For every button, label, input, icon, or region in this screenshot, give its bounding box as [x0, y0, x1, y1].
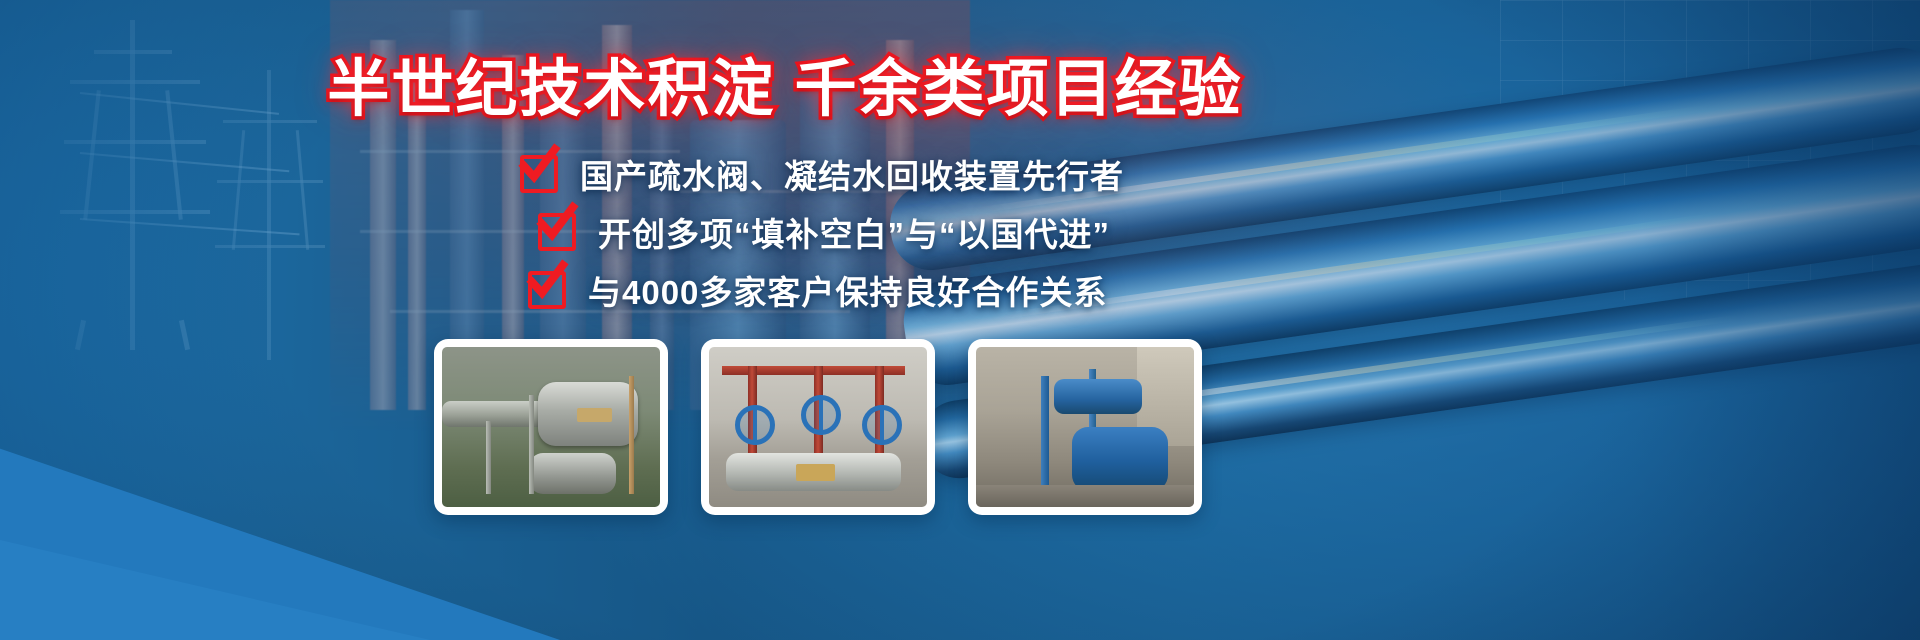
banner-headline: 半世纪技术积淀 千余类项目经验	[0, 38, 1570, 128]
product-photo-card[interactable]	[434, 339, 668, 515]
banner-content: 半世纪技术积淀 千余类项目经验 国产疏水阀、凝结水回收装置先行者 开创多项“填补…	[0, 0, 1920, 640]
checkbox-checked-icon	[528, 271, 566, 309]
product-photo-condensate-unit	[976, 347, 1194, 507]
product-photo-valve-manifold	[709, 347, 927, 507]
product-photo-gallery	[434, 339, 1202, 515]
product-photo-separator-vessel	[442, 347, 660, 507]
feature-list-item: 开创多项“填补空白”与“以国代进”	[520, 206, 1570, 258]
feature-list-item: 与4000多家客户保持良好合作关系	[520, 264, 1570, 316]
checkbox-checked-icon	[538, 213, 576, 251]
promo-banner: 半世纪技术积淀 千余类项目经验 国产疏水阀、凝结水回收装置先行者 开创多项“填补…	[0, 0, 1920, 640]
feature-list: 国产疏水阀、凝结水回收装置先行者 开创多项“填补空白”与“以国代进” 与4000…	[520, 148, 1570, 322]
feature-list-item-label: 与4000多家客户保持良好合作关系	[588, 266, 1107, 314]
product-photo-card[interactable]	[701, 339, 935, 515]
product-photo-card[interactable]	[968, 339, 1202, 515]
feature-list-item-label: 开创多项“填补空白”与“以国代进”	[598, 208, 1110, 256]
feature-list-item: 国产疏水阀、凝结水回收装置先行者	[520, 148, 1570, 200]
checkbox-checked-icon	[520, 155, 558, 193]
feature-list-item-label: 国产疏水阀、凝结水回收装置先行者	[580, 150, 1124, 198]
